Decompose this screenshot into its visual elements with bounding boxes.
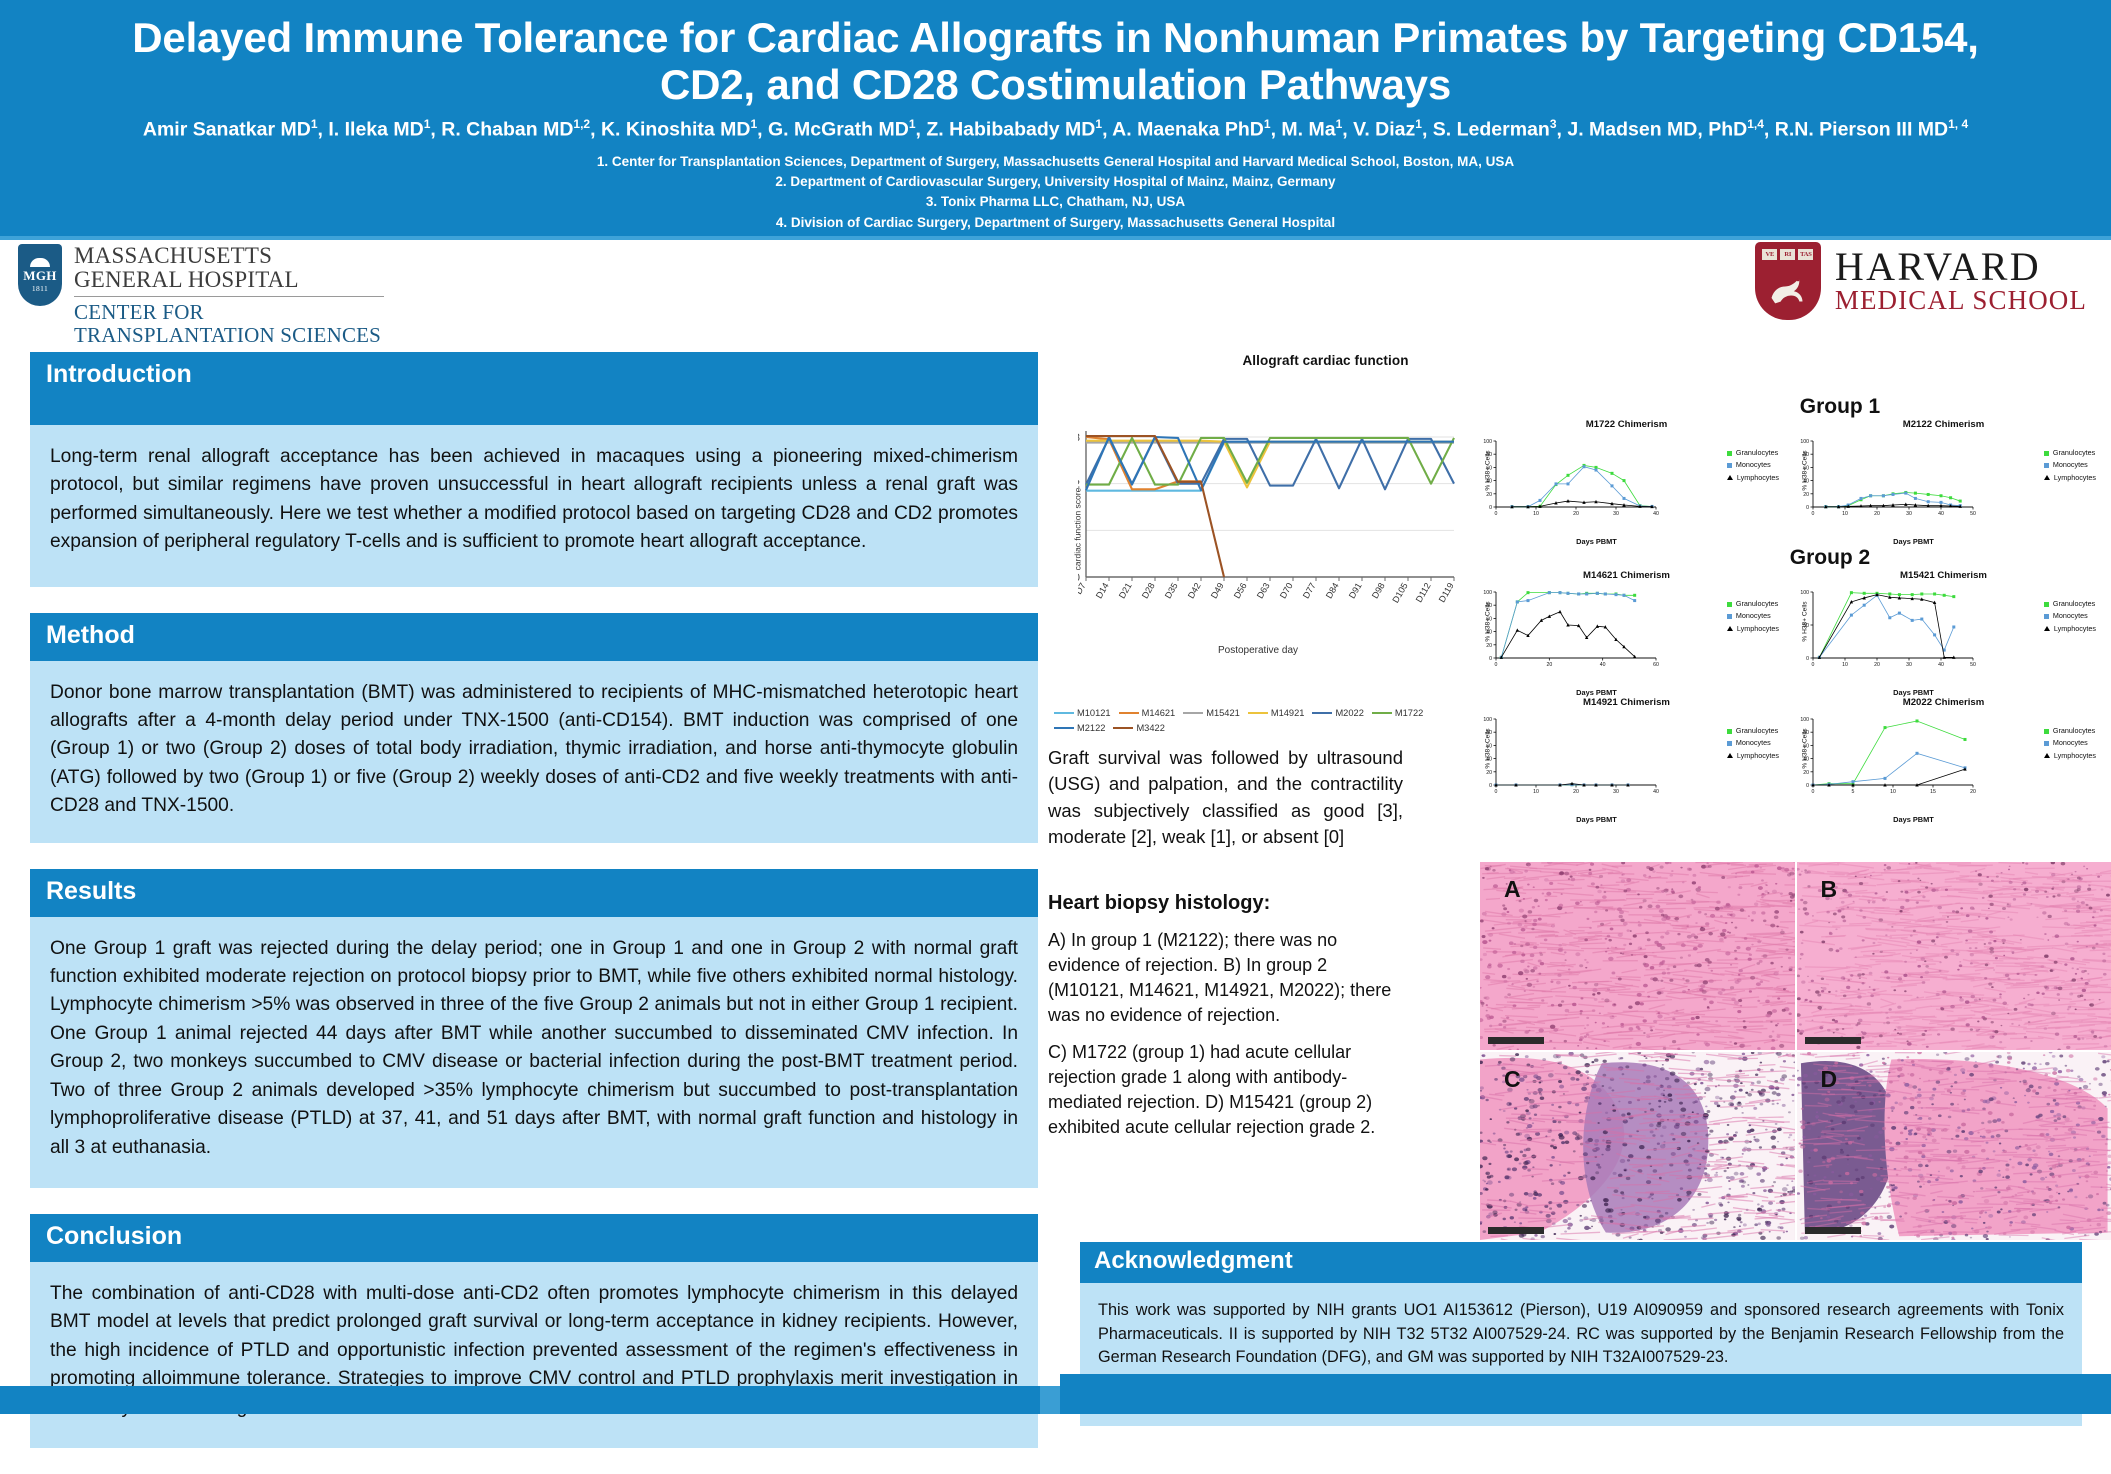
svg-text:0: 0 [1806, 505, 1809, 511]
veritas-book-1: VE [1762, 249, 1777, 260]
svg-text:D105: D105 [1390, 581, 1409, 605]
legend-marker [2044, 475, 2050, 480]
legend-marker [1727, 463, 1732, 468]
legend-label: Granulocytes [2053, 447, 2095, 459]
histology-panel-d: D [1797, 1052, 2111, 1240]
legend-item: Lymphocytes [1727, 623, 1779, 635]
chimerism-legend: GranulocytesMonocytesLymphocytes [1727, 447, 1779, 484]
svg-text:0: 0 [1489, 505, 1492, 511]
footer-bar-left [0, 1386, 1040, 1414]
graft-survival-description: Graft survival was followed by ultrasoun… [1048, 745, 1403, 850]
harvard-name: HARVARD [1835, 247, 2087, 286]
svg-text:D7: D7 [1078, 581, 1088, 596]
svg-text:40: 40 [1653, 511, 1659, 517]
histology-label-c: C [1504, 1066, 1521, 1093]
mgh-name-line1: MASSACHUSETTS [74, 244, 384, 268]
biopsy-title: Heart biopsy histology: [1048, 892, 1408, 915]
chimerism-legend: GranulocytesMonocytesLymphocytes [1727, 598, 1779, 635]
chimerism-chart-m15421: M15421 Chimerism% H38+ Cells050100010203… [1787, 570, 2100, 697]
svg-text:D77: D77 [1301, 581, 1318, 600]
affiliation-line: 4. Division of Cardiac Surgery, Departme… [0, 213, 2111, 233]
legend-item: Granulocytes [1727, 447, 1779, 459]
svg-text:30: 30 [1906, 662, 1912, 668]
harvard-school-name: MEDICAL SCHOOL [1835, 286, 2087, 314]
chimerism-plot-area: % H38+ Cells02040608010005101520Granuloc… [1787, 709, 2100, 817]
svg-text:100: 100 [1800, 590, 1809, 596]
legend-marker [2044, 451, 2049, 456]
chimerism-svg: 020406080100010203040 [1470, 709, 1660, 809]
chimerism-plot-area: % H38+ Cells02040608010001020304050Granu… [1787, 431, 2100, 539]
legend-swatch [1113, 727, 1133, 730]
method-body: Donor bone marrow transplantation (BMT) … [30, 661, 1038, 843]
svg-text:D56: D56 [1232, 581, 1249, 600]
legend-label: M15421 [1206, 708, 1240, 718]
svg-text:10: 10 [1842, 662, 1848, 668]
svg-text:20: 20 [1874, 662, 1880, 668]
svg-text:30: 30 [1906, 511, 1912, 517]
svg-text:D84: D84 [1324, 581, 1341, 600]
left-column: Introduction Long-term renal allograft a… [30, 352, 1038, 1474]
scale-bar-a [1488, 1037, 1544, 1044]
chimerism-chart-m14921: M14921 Chimerism% H38+ Cells020406080100… [1470, 697, 1783, 824]
legend-marker [2044, 602, 2049, 607]
legend-label: M1722 [1395, 708, 1423, 718]
legend-label: Granulocytes [2053, 598, 2095, 610]
legend-label: Monocytes [2053, 459, 2088, 471]
chimerism-svg: 020406080100010203040 [1470, 431, 1660, 531]
histology-panel-b: B [1797, 862, 2111, 1050]
svg-text:80: 80 [1486, 452, 1492, 458]
legend-item: Lymphocytes [2044, 750, 2096, 762]
chimerism-legend: GranulocytesMonocytesLymphocytes [1727, 725, 1779, 762]
mgh-center-line2: TRANSPLANTATION SCIENCES [74, 324, 384, 347]
svg-text:20: 20 [1486, 492, 1492, 498]
legend-item: Lymphocytes [2044, 623, 2096, 635]
chimerism-chart-title: M2022 Chimerism [1787, 697, 2100, 708]
svg-text:D28: D28 [1140, 581, 1157, 600]
svg-text:10: 10 [1842, 511, 1848, 517]
svg-text:D98: D98 [1370, 581, 1387, 600]
svg-text:40: 40 [1653, 789, 1659, 795]
legend-marker [1727, 602, 1732, 607]
legend-marker [2044, 463, 2049, 468]
method-heading: Method [30, 613, 1038, 661]
legend-marker [1727, 729, 1732, 734]
legend-item: Granulocytes [1727, 598, 1779, 610]
svg-text:0: 0 [1812, 789, 1815, 795]
affiliation-line: 2. Department of Cardiovascular Surgery,… [0, 172, 2111, 192]
chimerism-chart-m1722: M1722 Chimerism% H38+ Cells0204060801000… [1470, 419, 1783, 546]
legend-label: Lymphocytes [2054, 750, 2096, 762]
svg-text:100: 100 [1483, 590, 1492, 596]
chimerism-legend: GranulocytesMonocytesLymphocytes [2044, 447, 2096, 484]
conclusion-heading: Conclusion [30, 1214, 1038, 1262]
svg-text:D35: D35 [1163, 581, 1180, 600]
legend-marker [1727, 626, 1733, 631]
chimerism-chart-m2122: M2122 Chimerism% H38+ Cells0204060801000… [1787, 419, 2100, 546]
svg-text:0: 0 [1806, 783, 1809, 789]
svg-text:D14: D14 [1094, 581, 1111, 600]
legend-label: Monocytes [1736, 737, 1771, 749]
legend-item: Monocytes [2044, 737, 2096, 749]
scale-bar-d [1805, 1227, 1861, 1234]
svg-text:20: 20 [1546, 662, 1552, 668]
chimerism-plot-area: % H38+ Cells0204060801000204060Granulocy… [1470, 582, 1783, 690]
legend-item: M2022 [1312, 708, 1363, 718]
legend-label: Lymphocytes [1737, 750, 1779, 762]
svg-text:80: 80 [1486, 603, 1492, 609]
svg-text:D91: D91 [1347, 581, 1364, 600]
legend-label: Lymphocytes [2054, 623, 2096, 635]
legend-item: Lymphocytes [1727, 472, 1779, 484]
chimerism-plot-area: % H38+ Cells020406080100010203040Granulo… [1470, 431, 1783, 539]
legend-marker [2044, 614, 2049, 619]
mgh-shield-icon: MGH 1811 [18, 244, 62, 306]
svg-text:60: 60 [1486, 616, 1492, 622]
svg-text:D49: D49 [1209, 581, 1226, 600]
legend-item: Monocytes [1727, 459, 1779, 471]
author-list: Amir Sanatkar MD1, I. Ileka MD1, R. Chab… [0, 117, 2111, 142]
legend-label: M3422 [1136, 723, 1164, 733]
svg-text:20: 20 [1573, 789, 1579, 795]
svg-text:20: 20 [1803, 492, 1809, 498]
cardiac-chart-xlabel: Postoperative day [1048, 645, 1468, 656]
cardiac-chart-title: Allograft cardiac function [1183, 353, 1468, 368]
svg-text:40: 40 [1486, 479, 1492, 485]
svg-text:40: 40 [1938, 511, 1944, 517]
mgh-founding-year: 1811 [32, 284, 48, 293]
chimerism-svg: 02040608010001020304050 [1787, 431, 1977, 531]
chimerism-charts-region: Group 1 M1722 Chimerism% H38+ Cells02040… [1470, 395, 2100, 824]
footer-bar-right [1060, 1374, 2111, 1414]
harvard-shield-icon: VE RI TAS [1755, 242, 1821, 320]
histology-texture-a [1480, 862, 1795, 1050]
results-heading: Results [30, 869, 1038, 917]
legend-item: M15421 [1183, 708, 1240, 718]
legend-swatch [1119, 712, 1139, 715]
legend-label: Granulocytes [1736, 447, 1778, 459]
chimerism-chart-m14621: M14621 Chimerism% H38+ Cells020406080100… [1470, 570, 1783, 697]
chimerism-chart-title: M15421 Chimerism [1787, 570, 2100, 581]
svg-text:40: 40 [1938, 662, 1944, 668]
svg-text:100: 100 [1800, 439, 1809, 445]
svg-text:D119: D119 [1437, 581, 1456, 604]
svg-text:20: 20 [1486, 770, 1492, 776]
svg-text:3: 3 [1078, 432, 1080, 444]
legend-label: Lymphocytes [1737, 472, 1779, 484]
introduction-body: Long-term renal allograft acceptance has… [30, 425, 1038, 587]
biopsy-paragraph-2: C) M1722 (group 1) had acute cellular re… [1048, 1040, 1408, 1139]
svg-text:40: 40 [1803, 479, 1809, 485]
svg-text:D63: D63 [1255, 581, 1272, 600]
legend-swatch [1183, 712, 1203, 715]
chimerism-chart-title: M2122 Chimerism [1787, 419, 2100, 430]
chimerism-chart-title: M1722 Chimerism [1470, 419, 1783, 430]
svg-text:10: 10 [1890, 789, 1896, 795]
histology-panel-c: C [1480, 1052, 1795, 1240]
legend-item: M10121 [1054, 708, 1111, 718]
legend-label: Monocytes [1736, 610, 1771, 622]
svg-text:20: 20 [1970, 789, 1976, 795]
svg-text:0: 0 [1489, 656, 1492, 662]
svg-text:40: 40 [1486, 757, 1492, 763]
chimerism-chart-m2022: M2022 Chimerism% H38+ Cells0204060801000… [1787, 697, 2100, 824]
svg-text:100: 100 [1800, 717, 1809, 723]
svg-text:60: 60 [1803, 743, 1809, 749]
svg-text:D42: D42 [1186, 581, 1203, 600]
legend-marker [2044, 626, 2050, 631]
legend-item: M1722 [1372, 708, 1423, 718]
legend-item: M3422 [1113, 723, 1164, 733]
svg-text:80: 80 [1803, 452, 1809, 458]
chimerism-svg: 02040608010005101520 [1787, 709, 1977, 809]
results-body: One Group 1 graft was rejected during th… [30, 917, 1038, 1188]
legend-item: Monocytes [1727, 737, 1779, 749]
chimerism-plot-area: % H38+ Cells05010001020304050Granulocyte… [1787, 582, 2100, 690]
legend-item: Granulocytes [1727, 725, 1779, 737]
legend-marker [1727, 741, 1732, 746]
legend-label: M2122 [1077, 723, 1105, 733]
histology-label-d: D [1821, 1066, 1838, 1093]
affiliation-line: 1. Center for Transplantation Sciences, … [0, 152, 2111, 172]
scale-bar-c [1488, 1227, 1544, 1234]
svg-text:60: 60 [1803, 465, 1809, 471]
chimerism-chart-title: M14621 Chimerism [1470, 570, 1783, 581]
legend-marker [1727, 614, 1732, 619]
legend-label: M2022 [1335, 708, 1363, 718]
acknowledgment-heading: Acknowledgment [1080, 1242, 2082, 1283]
group2-chart-row-b: M14921 Chimerism% H38+ Cells020406080100… [1470, 697, 2100, 824]
svg-text:0: 0 [1495, 662, 1498, 668]
legend-marker [2044, 741, 2049, 746]
legend-swatch [1312, 712, 1332, 715]
svg-text:50: 50 [1803, 623, 1809, 629]
legend-item: Monocytes [2044, 610, 2096, 622]
group2-label: Group 2 [1560, 546, 2100, 570]
introduction-heading: Introduction [30, 352, 1038, 425]
legend-item: Monocytes [2044, 459, 2096, 471]
svg-text:30: 30 [1613, 511, 1619, 517]
legend-label: M14921 [1271, 708, 1305, 718]
legend-item: M14921 [1248, 708, 1305, 718]
legend-marker [1727, 753, 1733, 758]
svg-text:D112: D112 [1414, 581, 1433, 604]
svg-text:100: 100 [1483, 717, 1492, 723]
legend-swatch [1248, 712, 1268, 715]
legend-marker [2044, 753, 2050, 758]
legend-label: Granulocytes [2053, 725, 2095, 737]
middle-column: Allograft cardiac function cardiac funct… [1048, 345, 1468, 1140]
legend-item: Lymphocytes [2044, 472, 2096, 484]
legend-label: Lymphocytes [1737, 623, 1779, 635]
shield-dome [30, 258, 50, 267]
histology-texture-d [1797, 1052, 2111, 1240]
veritas-book-3: TAS [1798, 249, 1813, 260]
mgh-logo: MGH 1811 MASSACHUSETTS GENERAL HOSPITAL … [18, 244, 384, 347]
svg-text:0: 0 [1495, 511, 1498, 517]
legend-item: M2122 [1054, 723, 1105, 733]
heart-biopsy-histology-block: Heart biopsy histology: A) In group 1 (M… [1048, 892, 1408, 1140]
legend-swatch [1054, 712, 1074, 715]
mgh-center-line1: CENTER FOR [74, 301, 384, 324]
svg-text:1: 1 [1078, 525, 1080, 537]
histology-label-a: A [1504, 876, 1521, 903]
svg-text:2: 2 [1078, 479, 1080, 491]
svg-text:60: 60 [1653, 662, 1659, 668]
veritas-book-2: RI [1780, 249, 1795, 260]
chimerism-svg: 0204060801000204060 [1470, 582, 1660, 682]
chimerism-svg: 05010001020304050 [1787, 582, 1977, 682]
svg-text:20: 20 [1573, 511, 1579, 517]
histology-image-grid: A B C D [1480, 862, 2111, 1240]
svg-text:20: 20 [1803, 770, 1809, 776]
scale-bar-b [1805, 1037, 1861, 1044]
legend-label: Monocytes [2053, 610, 2088, 622]
poster-header: Delayed Immune Tolerance for Cardiac All… [0, 0, 2111, 236]
introduction-panel: Introduction Long-term renal allograft a… [30, 352, 1038, 587]
histology-label-b: B [1821, 876, 1838, 903]
svg-text:0: 0 [1489, 783, 1492, 789]
legend-label: Granulocytes [1736, 598, 1778, 610]
legend-marker [1727, 451, 1732, 456]
legend-item: Lymphocytes [1727, 750, 1779, 762]
svg-text:0: 0 [1812, 662, 1815, 668]
legend-label: M10121 [1077, 708, 1111, 718]
legend-label: Lymphocytes [2054, 472, 2096, 484]
legend-label: Monocytes [1736, 459, 1771, 471]
svg-text:10: 10 [1533, 511, 1539, 517]
legend-item: M14621 [1119, 708, 1176, 718]
svg-text:40: 40 [1600, 662, 1606, 668]
biopsy-paragraph-1: A) In group 1 (M2122); there was no evid… [1048, 928, 1408, 1027]
svg-text:D70: D70 [1278, 581, 1295, 600]
svg-text:60: 60 [1486, 743, 1492, 749]
svg-text:50: 50 [1970, 662, 1976, 668]
footer-bar-middle [1040, 1386, 1062, 1414]
svg-text:5: 5 [1852, 789, 1855, 795]
lion-icon [1765, 268, 1811, 308]
histology-panel-a: A [1480, 862, 1795, 1050]
method-panel: Method Donor bone marrow transplantation… [30, 613, 1038, 843]
legend-label: M14621 [1142, 708, 1176, 718]
chimerism-chart-title: M14921 Chimerism [1470, 697, 1783, 708]
svg-text:D21: D21 [1117, 581, 1134, 600]
svg-text:15: 15 [1930, 789, 1936, 795]
legend-item: Granulocytes [2044, 598, 2096, 610]
legend-item: Monocytes [1727, 610, 1779, 622]
svg-text:40: 40 [1803, 757, 1809, 763]
legend-item: Granulocytes [2044, 447, 2096, 459]
results-panel: Results One Group 1 graft was rejected d… [30, 869, 1038, 1188]
legend-item: Granulocytes [2044, 725, 2096, 737]
legend-marker [1727, 475, 1733, 480]
mgh-name-line2: GENERAL HOSPITAL [74, 268, 384, 292]
svg-text:10: 10 [1533, 789, 1539, 795]
cardiac-chart-plot: 0123D7D14D21D28D35D42D49D56D63D70D77D84D… [1078, 382, 1468, 682]
svg-text:40: 40 [1486, 630, 1492, 636]
chimerism-legend: GranulocytesMonocytesLymphocytes [2044, 725, 2096, 762]
conclusion-body: The combination of anti-CD28 with multi-… [30, 1262, 1038, 1448]
cardiac-chart-legend: M10121M14621M15421M14921M2022M1722M2122M… [1048, 708, 1468, 733]
legend-swatch [1372, 712, 1392, 715]
svg-text:20: 20 [1874, 511, 1880, 517]
histology-texture-b [1797, 862, 2111, 1050]
page-title: Delayed Immune Tolerance for Cardiac All… [0, 0, 2111, 109]
legend-marker [2044, 729, 2049, 734]
group1-chart-row: M1722 Chimerism% H38+ Cells0204060801000… [1470, 419, 2100, 546]
svg-text:80: 80 [1803, 730, 1809, 736]
affiliation-list: 1. Center for Transplantation Sciences, … [0, 152, 2111, 233]
svg-text:30: 30 [1613, 789, 1619, 795]
svg-text:0: 0 [1495, 789, 1498, 795]
mgh-logo-divider [74, 296, 384, 297]
svg-text:50: 50 [1970, 511, 1976, 517]
group2-chart-row-a: M14621 Chimerism% H38+ Cells020406080100… [1470, 570, 2100, 697]
svg-text:20: 20 [1486, 643, 1492, 649]
logo-band: MGH 1811 MASSACHUSETTS GENERAL HOSPITAL … [0, 240, 2111, 340]
legend-label: Monocytes [2053, 737, 2088, 749]
legend-label: Granulocytes [1736, 725, 1778, 737]
histology-texture-c [1480, 1052, 1795, 1240]
group1-label: Group 1 [1580, 395, 2100, 419]
svg-text:80: 80 [1486, 730, 1492, 736]
chimerism-legend: GranulocytesMonocytesLymphocytes [2044, 598, 2096, 635]
svg-text:0: 0 [1806, 656, 1809, 662]
svg-text:100: 100 [1483, 439, 1492, 445]
legend-swatch [1054, 727, 1074, 730]
chimerism-plot-area: % H38+ Cells020406080100010203040Granulo… [1470, 709, 1783, 817]
svg-text:0: 0 [1812, 511, 1815, 517]
mgh-initials: MGH [23, 268, 56, 284]
affiliation-line: 3. Tonix Pharma LLC, Chatham, NJ, USA [0, 192, 2111, 212]
svg-text:60: 60 [1486, 465, 1492, 471]
harvard-logo: VE RI TAS HARVARD MEDICAL SCHOOL [1755, 242, 2087, 320]
